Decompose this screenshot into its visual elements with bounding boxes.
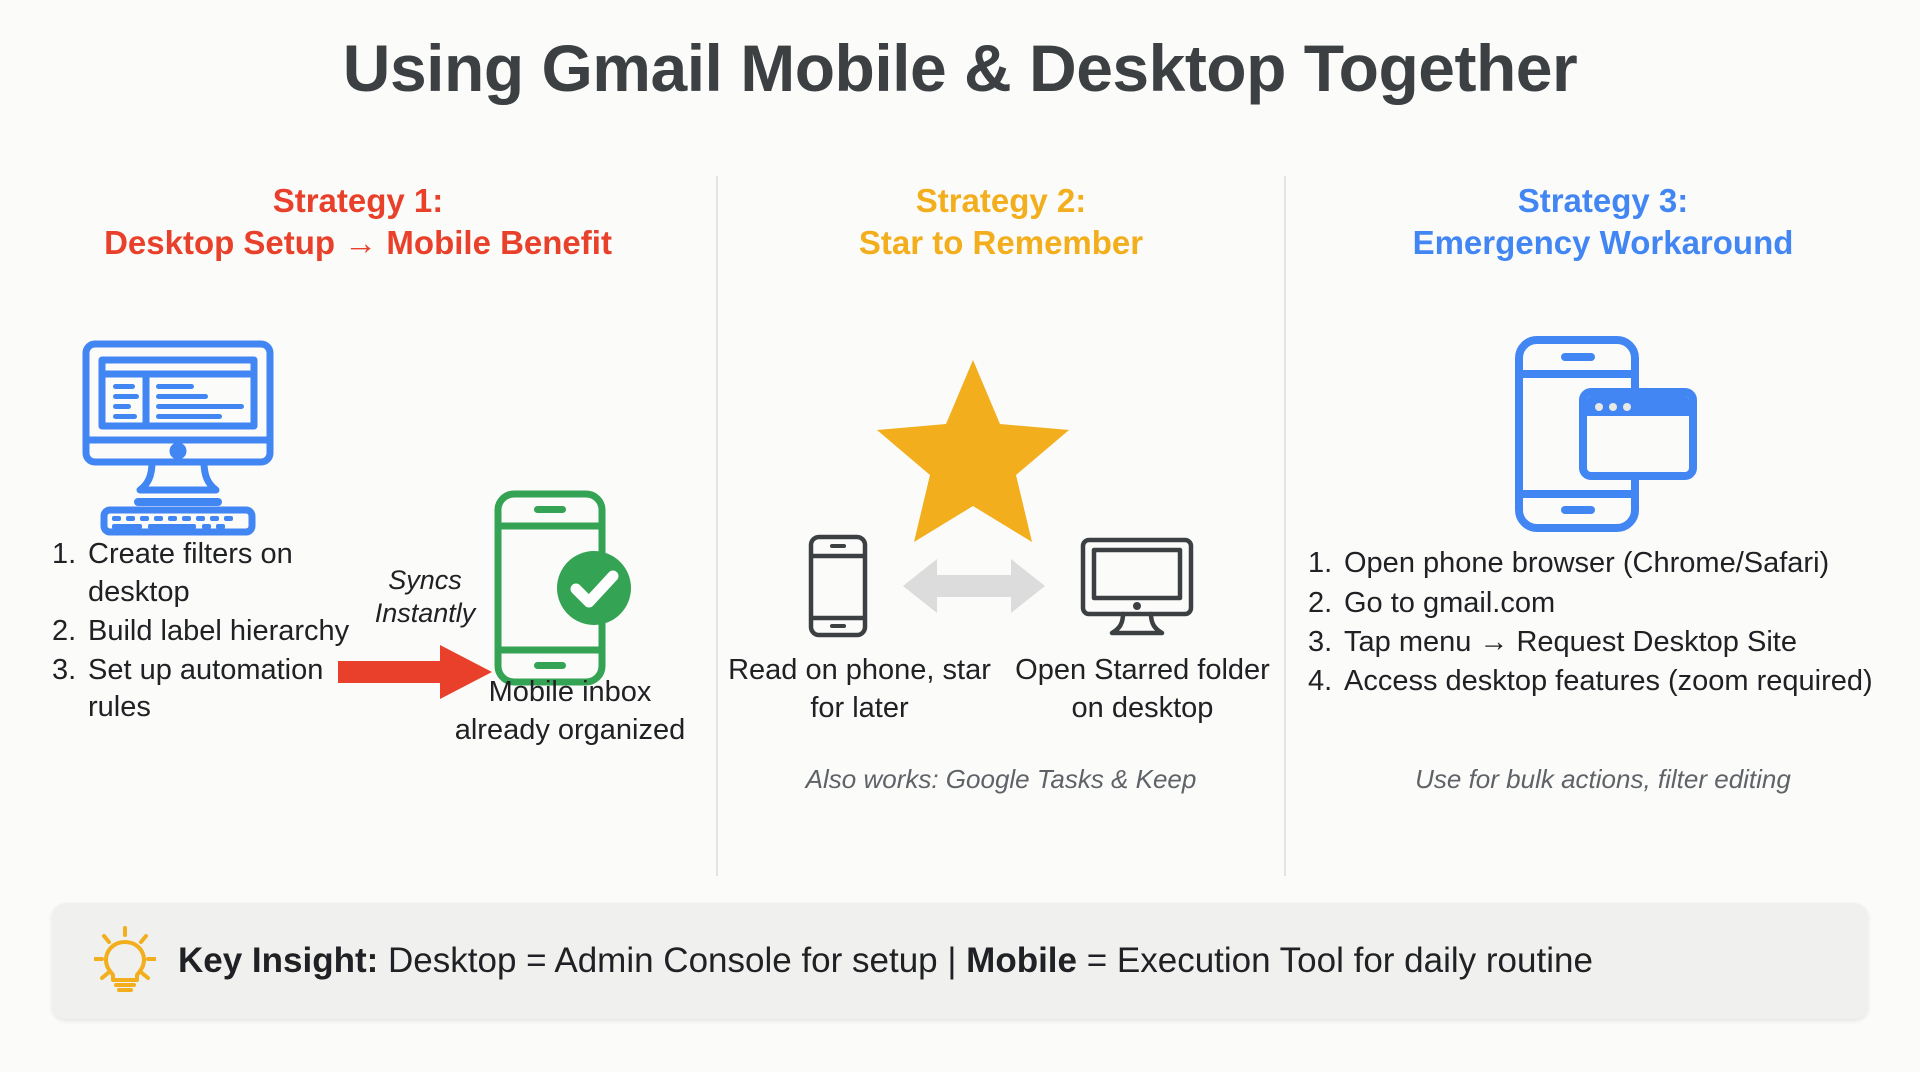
key-insight-mobile: Mobile bbox=[966, 941, 1077, 980]
infographic-slide: Using Gmail Mobile & Desktop Together St… bbox=[0, 0, 1920, 1072]
strategy-1-heading-line2: Desktop Setup → Mobile Benefit bbox=[0, 222, 716, 264]
key-insight-part2: = Execution Tool for daily routine bbox=[1077, 941, 1593, 980]
strategy-1-caption: Mobile inbox already organized bbox=[440, 674, 700, 749]
strategy-3-footnote: Use for bulk actions, filter editing bbox=[1286, 764, 1920, 795]
step-number: 3. bbox=[52, 652, 88, 726]
desktop-monitor-icon bbox=[78, 336, 278, 541]
step-number: 2. bbox=[1308, 584, 1344, 622]
step-text: Set up automation rules bbox=[88, 652, 352, 726]
step-number: 1. bbox=[52, 536, 88, 610]
strategy-3-stage: 1. Open phone browser (Chrome/Safari) 2.… bbox=[1286, 264, 1920, 824]
step-text: Tap menu → Request Desktop Site bbox=[1344, 623, 1908, 661]
strategy-3-heading: Strategy 3: Emergency Workaround bbox=[1286, 180, 1920, 264]
step-number: 3. bbox=[1308, 623, 1344, 661]
page-title: Using Gmail Mobile & Desktop Together bbox=[0, 30, 1920, 106]
list-item: 2. Build label hierarchy bbox=[52, 613, 352, 650]
monitor-outline-icon bbox=[1079, 534, 1195, 643]
strategy-column-1: Strategy 1: Desktop Setup → Mobile Benef… bbox=[0, 176, 716, 876]
key-insight-part1: Desktop = Admin Console for setup | bbox=[378, 941, 966, 980]
strategy-2-device-pair bbox=[718, 534, 1284, 643]
step-number: 4. bbox=[1308, 662, 1344, 700]
step-number: 2. bbox=[52, 613, 88, 650]
phone-outline-icon bbox=[807, 534, 869, 643]
step-text: Go to gmail.com bbox=[1344, 584, 1908, 622]
mobile-phone-check-icon bbox=[490, 488, 640, 693]
list-item: 3. Tap menu → Request Desktop Site bbox=[1308, 623, 1908, 661]
strategy-3-heading-line2: Emergency Workaround bbox=[1286, 222, 1920, 264]
list-item: 4. Access desktop features (zoom require… bbox=[1308, 662, 1908, 700]
phone-browser-window-icon bbox=[1511, 334, 1701, 539]
strategy-1-heading-line1: Strategy 1: bbox=[0, 180, 716, 222]
step-text: Open phone browser (Chrome/Safari) bbox=[1344, 544, 1908, 582]
lightbulb-icon bbox=[94, 926, 156, 999]
strategy-2-caption-left: Read on phone, star for later bbox=[718, 652, 1001, 726]
list-item: 1. Create filters on desktop bbox=[52, 536, 352, 610]
strategy-1-steps: 1. Create filters on desktop 2. Build la… bbox=[52, 536, 352, 728]
strategy-1-stage: 1. Create filters on desktop 2. Build la… bbox=[0, 264, 716, 824]
sync-label: Syncs Instantly bbox=[345, 564, 505, 630]
key-insight-bar: Key Insight: Desktop = Admin Console for… bbox=[52, 903, 1868, 1019]
key-insight-text: Key Insight: Desktop = Admin Console for… bbox=[178, 941, 1593, 981]
list-item: 3. Set up automation rules bbox=[52, 652, 352, 726]
strategy-column-2: Strategy 2: Star to Remember bbox=[716, 176, 1286, 876]
strategy-column-3: Strategy 3: Emergency Workaround bbox=[1286, 176, 1920, 876]
step-text: Build label hierarchy bbox=[88, 613, 352, 650]
star-icon bbox=[873, 354, 1073, 549]
step-text: Access desktop features (zoom required) bbox=[1344, 662, 1908, 700]
strategy-2-caption-right: Open Starred folder on desktop bbox=[1001, 652, 1284, 726]
list-item: 2. Go to gmail.com bbox=[1308, 584, 1908, 622]
strategy-columns: Strategy 1: Desktop Setup → Mobile Benef… bbox=[0, 176, 1920, 876]
strategy-2-footnote: Also works: Google Tasks & Keep bbox=[718, 764, 1284, 795]
strategy-2-heading: Strategy 2: Star to Remember bbox=[718, 180, 1284, 264]
strategy-1-heading: Strategy 1: Desktop Setup → Mobile Benef… bbox=[0, 180, 716, 264]
step-number: 1. bbox=[1308, 544, 1344, 582]
double-headed-arrow-icon bbox=[899, 551, 1049, 626]
strategy-2-heading-line1: Strategy 2: bbox=[718, 180, 1284, 222]
list-item: 1. Open phone browser (Chrome/Safari) bbox=[1308, 544, 1908, 582]
key-insight-label: Key Insight: bbox=[178, 941, 378, 980]
strategy-2-captions: Read on phone, star for later Open Starr… bbox=[718, 652, 1284, 726]
strategy-3-steps: 1. Open phone browser (Chrome/Safari) 2.… bbox=[1308, 544, 1908, 701]
strategy-3-heading-line1: Strategy 3: bbox=[1286, 180, 1920, 222]
strategy-2-stage: Read on phone, star for later Open Starr… bbox=[718, 264, 1284, 824]
step-text: Create filters on desktop bbox=[88, 536, 352, 610]
strategy-2-heading-line2: Star to Remember bbox=[718, 222, 1284, 264]
